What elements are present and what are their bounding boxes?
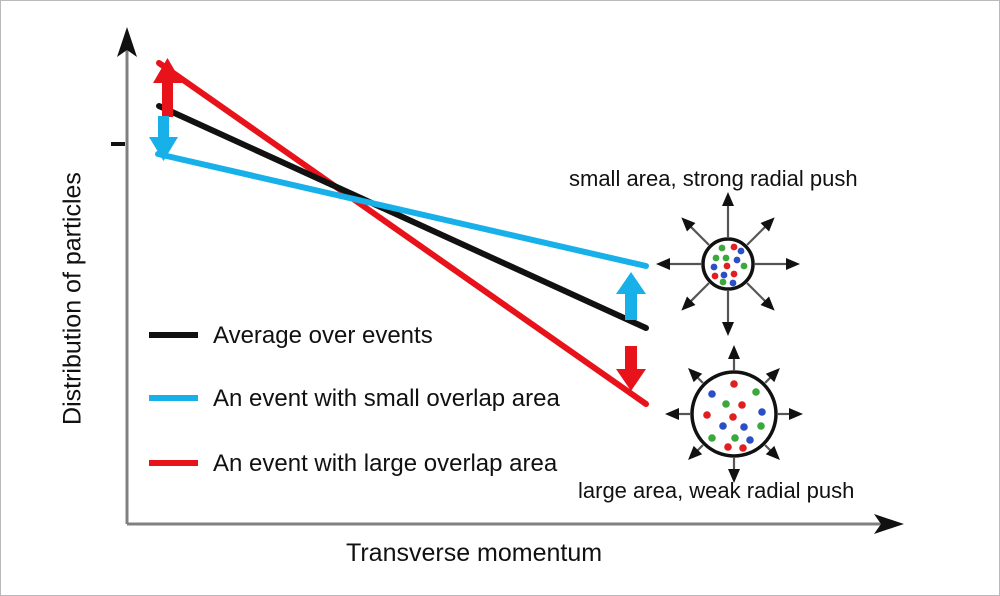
legend-label-average: Average over events <box>213 322 433 350</box>
data-lines-group <box>158 63 646 404</box>
line-large-overlap <box>159 63 646 404</box>
blue-up-arrow-right <box>616 272 646 320</box>
physics-schematic-figure <box>1 1 1000 596</box>
annotation-small-area: small area, strong radial push <box>569 166 858 192</box>
line-average <box>159 106 646 328</box>
legend-group <box>149 335 198 463</box>
blue-down-arrow-left <box>149 116 178 161</box>
x-axis-label: Transverse momentum <box>346 539 602 568</box>
figure-canvas: Distribution of particles Transverse mom… <box>0 0 1000 596</box>
legend-label-small-overlap: An event with small overlap area <box>213 385 560 413</box>
small-area-circle-diagram <box>656 192 800 336</box>
annotation-large-area: large area, weak radial push <box>578 478 854 504</box>
large-area-circle-diagram <box>665 345 803 483</box>
y-axis-label: Distribution of particles <box>59 149 88 449</box>
legend-label-large-overlap: An event with large overlap area <box>213 450 557 478</box>
